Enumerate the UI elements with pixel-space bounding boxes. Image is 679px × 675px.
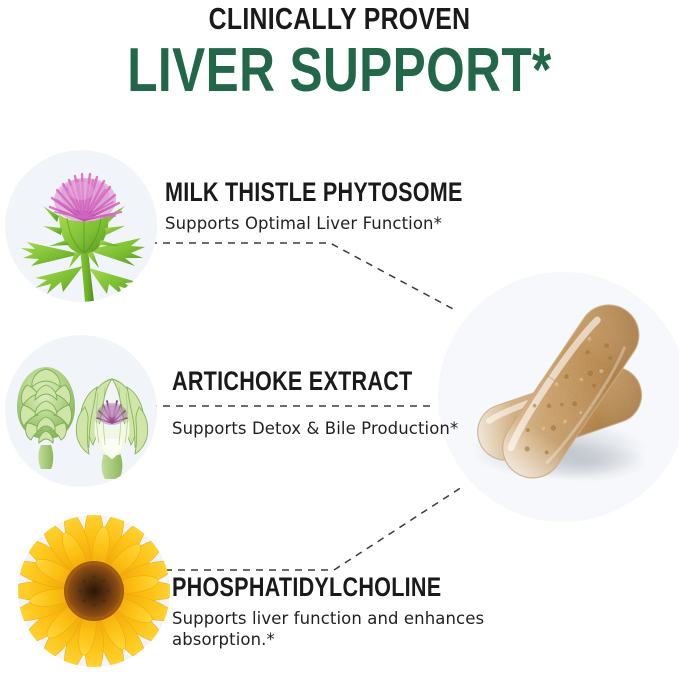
sunflower-icon — [18, 515, 170, 667]
ingredient-image-artichoke — [5, 335, 157, 487]
liver-support-infographic: CLINICALLY PROVEN LIVER SUPPORT* — [0, 0, 679, 675]
ingredient-block-artichoke: ARTICHOKE EXTRACT Supports Detox & Bile … — [172, 367, 472, 439]
ingredient-description: Supports liver function and enhances abs… — [172, 608, 572, 650]
ingredient-title: ARTICHOKE EXTRACT — [172, 367, 412, 396]
ingredient-description: Supports Detox & Bile Production* — [172, 418, 472, 439]
capsules-icon — [438, 272, 679, 522]
ingredient-block-milk-thistle: MILK THISTLE PHYTOSOME Supports Optimal … — [165, 178, 595, 234]
headline-eyebrow: CLINICALLY PROVEN — [68, 2, 611, 36]
ingredient-image-milk-thistle — [5, 150, 157, 302]
connector-phosphatidylcholine — [152, 487, 462, 570]
connector-milk-thistle — [150, 243, 455, 310]
ingredient-image-sunflower — [18, 515, 170, 667]
ingredient-title: PHOSPHATIDYLCHOLINE — [172, 573, 492, 602]
artichoke-icon — [5, 335, 157, 487]
page-title: LIVER SUPPORT* — [68, 40, 611, 102]
ingredient-title: MILK THISTLE PHYTOSOME — [165, 178, 509, 207]
headline-block: CLINICALLY PROVEN LIVER SUPPORT* — [0, 0, 679, 102]
milk-thistle-icon — [5, 150, 157, 302]
product-image-capsules — [438, 272, 679, 522]
ingredient-block-phosphatidylcholine: PHOSPHATIDYLCHOLINE Supports liver funct… — [172, 573, 572, 650]
ingredient-description: Supports Optimal Liver Function* — [165, 213, 595, 234]
